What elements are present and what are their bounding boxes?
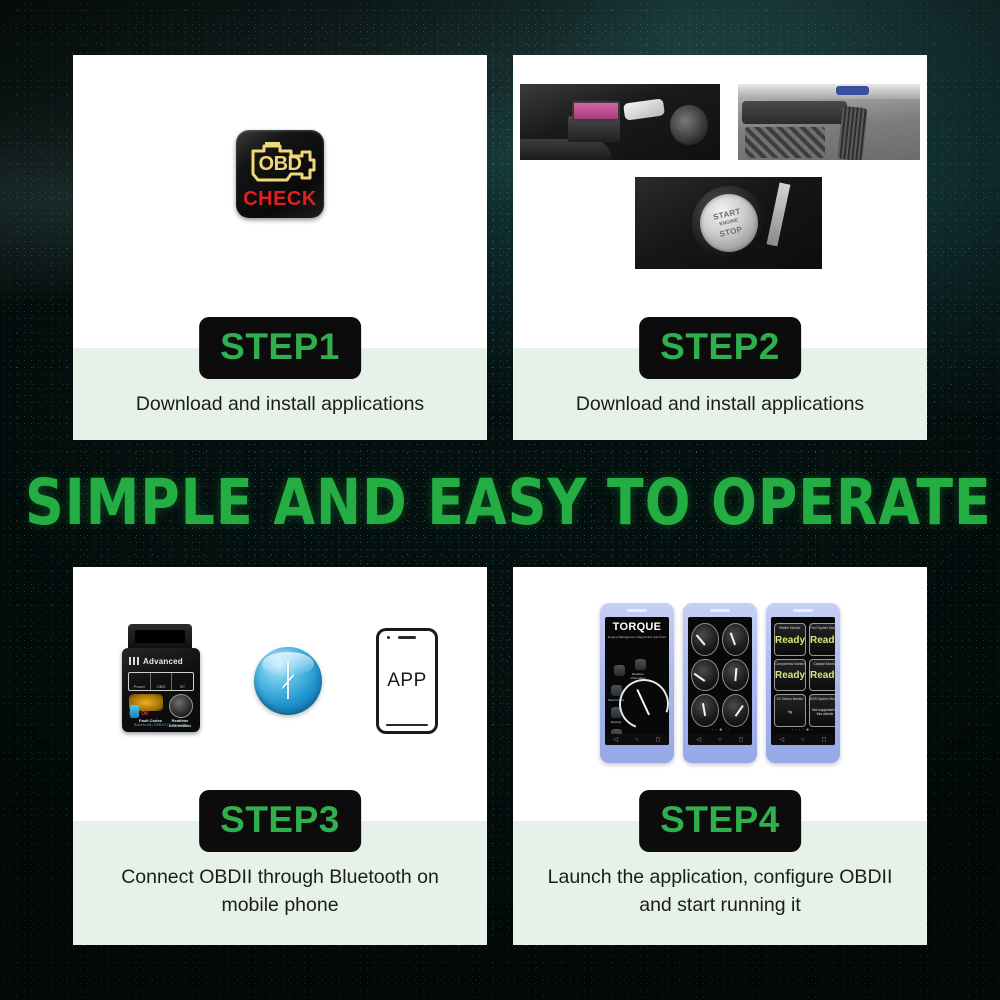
dongle-led-2: OBD	[151, 673, 173, 690]
obd-check-icon: OBD CHECK	[236, 130, 324, 218]
home-icon[interactable]: ○	[801, 737, 805, 743]
obd-icon-check: CHECK	[236, 189, 324, 209]
pedal-photo-dash	[738, 84, 920, 99]
step-card-1: OBD CHECK STEP1 Download and install app…	[73, 55, 487, 440]
readiness-tile-grid: Misfire Monitor Ready Fuel System Monito…	[774, 623, 832, 727]
start-stop-button-label: START ENGINE STOP	[697, 203, 760, 242]
readiness-tile-4-value: Ready	[810, 671, 835, 681]
phone-home-bar	[386, 724, 428, 726]
gauge-grid	[691, 623, 749, 727]
readiness-tile-6-value: Not supported by this vehicle	[810, 708, 835, 717]
gauge-rpm[interactable]	[722, 623, 750, 656]
step-card-4: TORQUE Engine Management Diagnostics and…	[513, 567, 927, 945]
port-photo-seat	[520, 139, 612, 160]
readiness-tile-2-caption: Fuel System Monitor	[810, 626, 835, 630]
readiness-screen: Misfire Monitor Ready Fuel System Monito…	[771, 617, 835, 745]
pedal-photo-panel	[742, 101, 848, 124]
readiness-tile-6-caption: EGR System Monitor	[810, 697, 835, 701]
phone-app-label: APP	[379, 631, 435, 731]
pedal-photo-pedal	[837, 106, 868, 160]
home-icon[interactable]: ○	[718, 737, 722, 743]
gauges-screen: ···●·· ◁ ○ ◻	[688, 617, 752, 745]
gauge-throttle[interactable]	[722, 694, 750, 727]
port-photo-ignition	[670, 105, 708, 145]
dongle-logo-icon	[129, 657, 140, 665]
readiness-tile-5[interactable]: O2 Sensor Monitor Hg	[774, 694, 806, 727]
torque-app-title: TORQUE	[605, 622, 669, 633]
app-screenshot-row: TORQUE Engine Management Diagnostics and…	[600, 603, 840, 763]
android-navbar[interactable]: ◁ ○ ◻	[688, 734, 752, 745]
step-card-2: START ENGINE STOP STEP2 Download and ins…	[513, 55, 927, 440]
torque-menu-label-4: Settings	[607, 720, 625, 724]
step-2-caption: Download and install applications	[513, 390, 927, 418]
pedal-photo-mat	[745, 127, 825, 159]
back-icon[interactable]: ◁	[613, 736, 618, 743]
torque-app-subtitle: Engine Management Diagnostics and Tools	[605, 635, 669, 639]
step-4-media: TORQUE Engine Management Diagnostics and…	[513, 567, 927, 821]
dongle-body: Advanced Power OBD BT CAR OK Fault Codes	[122, 648, 200, 732]
readiness-tile-5-caption: O2 Sensor Monitor	[775, 697, 805, 701]
port-photo-connector	[572, 101, 620, 122]
start-stop-button-photo: START ENGINE STOP	[635, 177, 822, 269]
bluetooth-icon: ᛅ	[254, 647, 322, 715]
android-navbar[interactable]: ◁ ○ ◻	[605, 734, 669, 745]
dongle-led-3: BT	[172, 673, 193, 690]
phone-speaker-icon	[710, 609, 730, 612]
phone-speaker-icon	[793, 609, 813, 612]
torque-splash-screen: TORQUE Engine Management Diagnostics and…	[605, 617, 669, 745]
dongle-footer-label: Bluetooth OBDII Diagnostic	[128, 722, 194, 727]
step-3-badge: STEP3	[199, 790, 361, 852]
step-1-media: OBD CHECK	[73, 55, 487, 348]
gauges-phone: ···●·· ◁ ○ ◻	[683, 603, 757, 763]
page-headline: SIMPLE AND EASY TO OPERATE	[25, 466, 975, 540]
button-photo-chrome-trim	[767, 182, 791, 246]
readiness-phone: Misfire Monitor Ready Fuel System Monito…	[766, 603, 840, 763]
readiness-tile-1[interactable]: Misfire Monitor Ready	[774, 623, 806, 656]
bluetooth-glyph: ᛅ	[254, 647, 322, 715]
gauge-volts[interactable]	[691, 694, 719, 727]
connection-diagram: Advanced Power OBD BT CAR OK Fault Codes	[73, 624, 487, 738]
readiness-tile-6[interactable]: EGR System Monitor Not supported by this…	[809, 694, 835, 727]
app-phone-outline: APP	[376, 628, 438, 734]
readiness-tile-1-value: Ready	[775, 636, 805, 646]
gauge-speed[interactable]	[691, 623, 719, 656]
torque-splash-phone: TORQUE Engine Management Diagnostics and…	[600, 603, 674, 763]
readiness-tile-3-value: Ready	[775, 671, 805, 681]
step-3-caption: Connect OBDII through Bluetooth on mobil…	[73, 863, 487, 919]
back-icon[interactable]: ◁	[779, 736, 784, 743]
dongle-dial-icon	[169, 694, 193, 718]
pedal-photo-trim	[836, 86, 869, 95]
dongle-led-strip: Power OBD BT	[128, 672, 194, 691]
readiness-tile-2-value: Ready	[810, 636, 835, 646]
step-2-media: START ENGINE STOP	[513, 55, 927, 348]
torque-rpm-dial	[611, 671, 669, 737]
page-indicator-dots: ···●··	[688, 727, 752, 733]
back-icon[interactable]: ◁	[696, 736, 701, 743]
obdii-bluetooth-dongle: Advanced Power OBD BT CAR OK Fault Codes	[122, 624, 200, 738]
dongle-led-1: Power	[129, 673, 151, 690]
dongle-bluetooth-icon	[130, 705, 139, 718]
dongle-brand-label: Advanced	[129, 657, 183, 666]
torque-menu-icon-2	[635, 659, 646, 670]
recent-icon[interactable]: ◻	[656, 736, 661, 743]
readiness-tile-1-caption: Misfire Monitor	[775, 626, 805, 630]
step-1-badge: STEP1	[199, 317, 361, 379]
step-3-footer: STEP3 Connect OBDII through Bluetooth on…	[73, 821, 487, 945]
step-4-footer: STEP4 Launch the application, configure …	[513, 821, 927, 945]
step-card-3: Advanced Power OBD BT CAR OK Fault Codes	[73, 567, 487, 945]
obd-icon-text: OBD	[236, 154, 324, 174]
step-4-badge: STEP4	[639, 790, 801, 852]
pedal-photo	[738, 84, 920, 160]
readiness-tile-5-value: Hg	[786, 710, 794, 715]
gauge-coolant[interactable]	[722, 659, 750, 692]
step-2-badge: STEP2	[639, 317, 801, 379]
readiness-tile-4[interactable]: Catalyst Monitor Ready	[809, 659, 835, 692]
recent-icon[interactable]: ◻	[822, 736, 827, 743]
readiness-tile-2[interactable]: Fuel System Monitor Ready	[809, 623, 835, 656]
phone-speaker-icon	[627, 609, 647, 612]
step-1-caption: Download and install applications	[73, 390, 487, 418]
step-3-media: Advanced Power OBD BT CAR OK Fault Codes	[73, 567, 487, 821]
step-1-footer: STEP1 Download and install applications	[73, 348, 487, 440]
recent-icon[interactable]: ◻	[739, 736, 744, 743]
android-navbar[interactable]: ◁ ○ ◻	[771, 734, 835, 745]
readiness-tile-3-caption: Components Monitor	[775, 662, 805, 666]
step-2-footer: STEP2 Download and install applications	[513, 348, 927, 440]
port-photo-key	[623, 99, 665, 121]
photo-collage: START ENGINE STOP	[513, 55, 927, 348]
obd-port-photo	[520, 84, 720, 160]
dongle-graphics: CAR OK Fault Codes Realtime Information …	[127, 694, 195, 728]
home-icon[interactable]: ○	[635, 737, 639, 743]
readiness-tile-3[interactable]: Components Monitor Ready	[774, 659, 806, 692]
page-indicator-dots: ····●·	[771, 727, 835, 733]
gauge-fuel[interactable]	[691, 659, 719, 692]
readiness-tile-4-caption: Catalyst Monitor	[810, 662, 835, 666]
start-stop-button: START ENGINE STOP	[700, 194, 758, 252]
torque-menu-icon-1	[614, 665, 625, 676]
promo-infographic: OBD CHECK STEP1 Download and install app…	[0, 0, 1000, 1000]
step-4-caption: Launch the application, configure OBDII …	[513, 863, 927, 919]
